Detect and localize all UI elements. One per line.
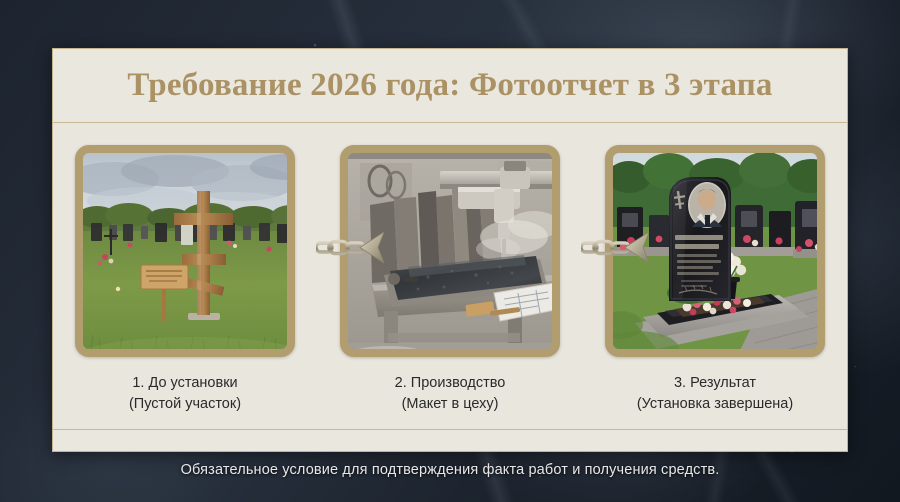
title-band: Требование 2026 года: Фотоотчет в 3 этап… — [53, 49, 847, 123]
slide-card: Требование 2026 года: Фотоотчет в 3 этап… — [52, 48, 848, 452]
step-2-caption-line1: 2. Производство — [395, 375, 506, 391]
step-3-caption-line2: (Установка завершена) — [637, 394, 793, 415]
step-1-photo-frame[interactable] — [75, 145, 295, 357]
step-1-caption-line1: 1. До установки — [132, 375, 237, 391]
step-3[interactable]: 3. Результат (Установка завершена) — [605, 145, 825, 415]
cemetery-empty-plot-photo — [83, 153, 287, 349]
step-2[interactable]: 2. Производство (Макет в цеху) — [340, 145, 560, 415]
workshop-cnc-illustration — [348, 153, 552, 349]
step-1[interactable]: 1. До установки (Пустой участок) — [75, 145, 295, 415]
step-2-caption-line2: (Макет в цеху) — [395, 394, 506, 415]
step-3-caption-line1: 3. Результат — [674, 375, 756, 391]
step-1-caption-line2: (Пустой участок) — [129, 394, 241, 415]
workshop-cnc-granite-photo — [348, 153, 552, 349]
step-2-caption: 2. Производство (Макет в цеху) — [395, 373, 506, 415]
card-footer-strip — [53, 429, 847, 451]
cemetery-empty-plot-illustration — [83, 153, 287, 349]
page-title: Требование 2026 года: Фотоотчет в 3 этап… — [127, 67, 772, 104]
step-2-photo-frame[interactable] — [340, 145, 560, 357]
steps-row: 1. До установки (Пустой участок) — [53, 123, 847, 429]
slide-footnote: Обязательное условие для подтверждения ф… — [0, 462, 900, 478]
installed-monument-photo — [613, 153, 817, 349]
step-1-caption: 1. До установки (Пустой участок) — [129, 373, 241, 415]
step-3-caption: 3. Результат (Установка завершена) — [637, 373, 793, 415]
installed-monument-illustration — [613, 153, 817, 349]
step-3-photo-frame[interactable] — [605, 145, 825, 357]
